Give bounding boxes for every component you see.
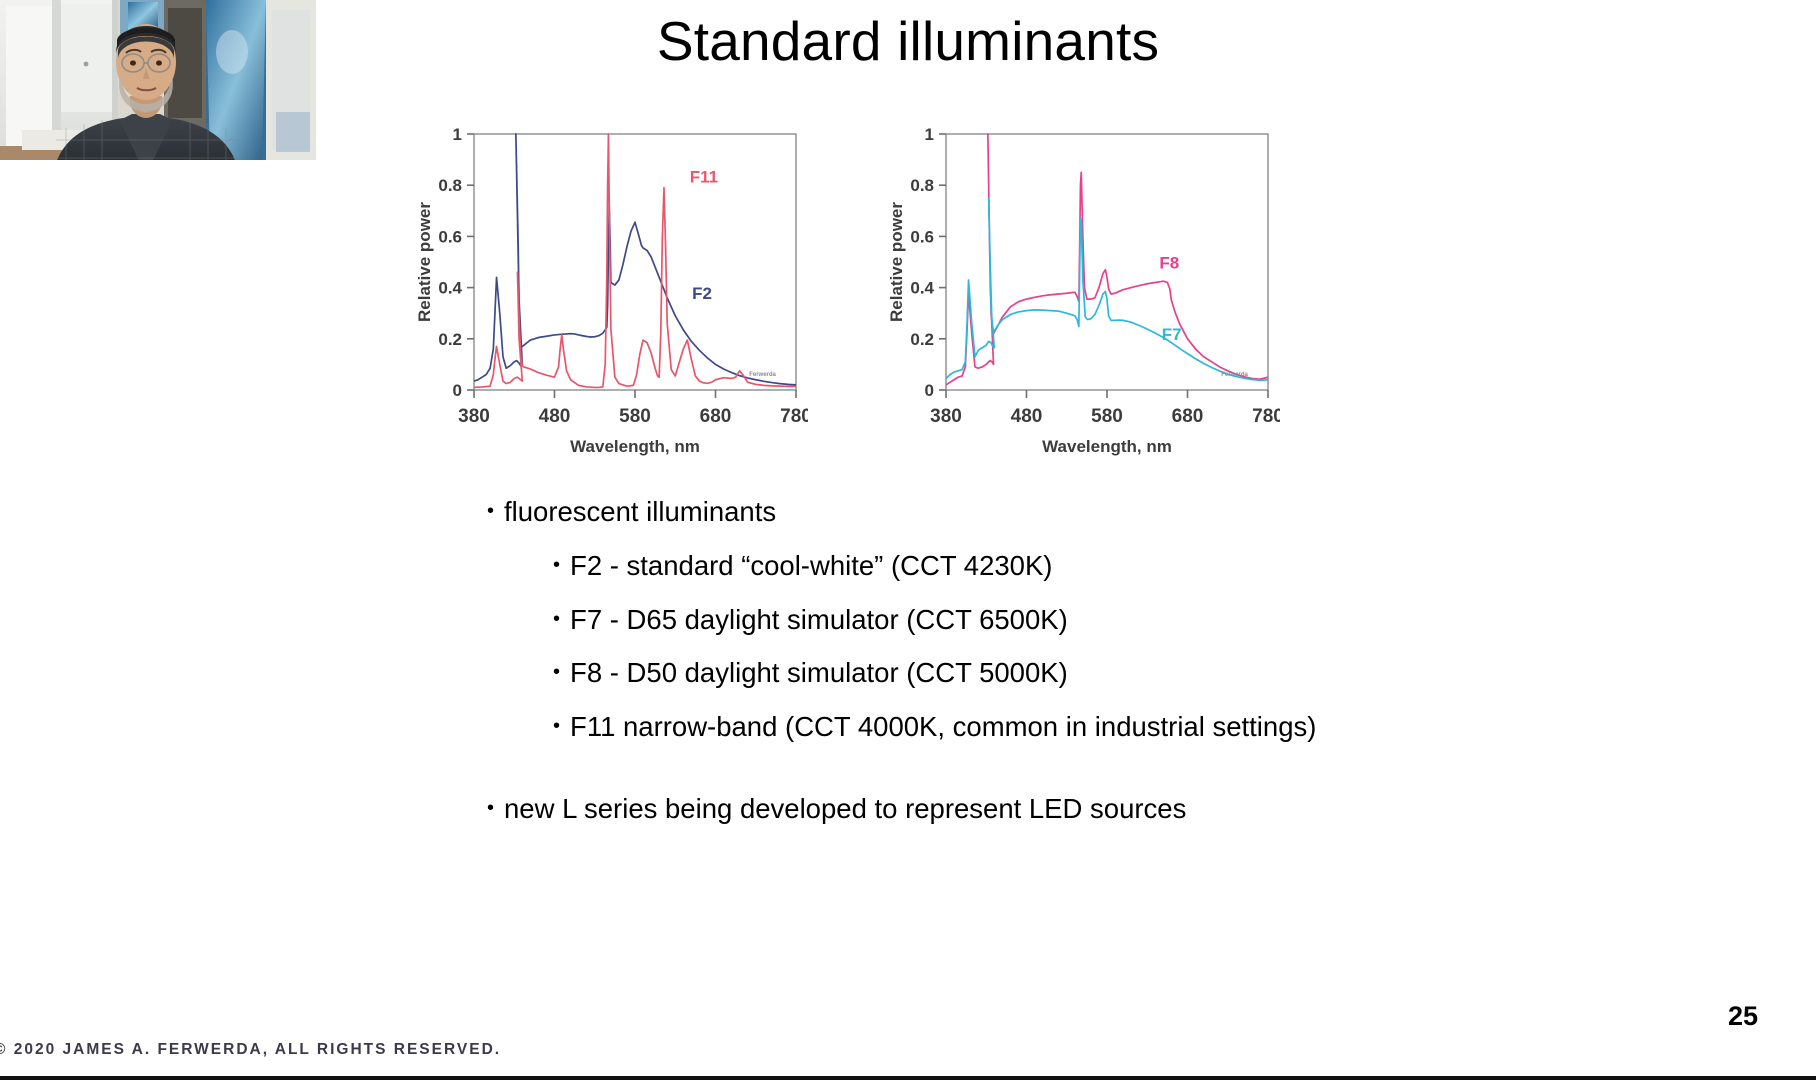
bullet-marker-icon: • (553, 550, 560, 581)
y-tick-label: 1 (925, 125, 934, 144)
x-tick-label: 680 (700, 406, 732, 427)
y-tick-label: 0 (453, 381, 462, 400)
bullet-item: •F8 - D50 daylight simulator (CCT 5000K) (0, 657, 1816, 689)
y-tick-label: 0.6 (910, 227, 934, 246)
series-label-F7: F7 (1162, 325, 1182, 344)
y-tick-label: 0.2 (910, 330, 934, 349)
bullet-marker-icon: • (487, 793, 494, 824)
series-label-F11: F11 (690, 168, 718, 187)
bullet-marker-icon: • (553, 657, 560, 688)
page-title: Standard illuminants (0, 8, 1816, 74)
x-tick-label: 380 (930, 406, 962, 427)
bullet-text: F7 - D65 daylight simulator (CCT 6500K) (570, 604, 1068, 636)
chart-credit-label: Ferwerda (1221, 372, 1248, 378)
x-axis-label: Wavelength, nm (1042, 437, 1172, 456)
x-tick-label: 580 (619, 406, 651, 427)
x-axis-label: Wavelength, nm (570, 437, 700, 456)
y-tick-label: 0 (925, 381, 934, 400)
y-tick-label: 0.8 (910, 176, 934, 195)
x-tick-label: 580 (1091, 406, 1123, 427)
bullet-text: F8 - D50 daylight simulator (CCT 5000K) (570, 657, 1068, 689)
x-tick-label: 680 (1172, 406, 1204, 427)
bullet-item: •F7 - D65 daylight simulator (CCT 6500K) (0, 604, 1816, 636)
chart-credit-label: Ferwerda (749, 372, 776, 378)
chart-f2-f11-svg: 00.20.40.60.81380480580680780Wavelength,… (396, 118, 808, 463)
y-tick-label: 0.4 (438, 279, 462, 298)
bullet-marker-icon: • (553, 604, 560, 635)
bullet-text: F2 - standard “cool-white” (CCT 4230K) (570, 550, 1052, 582)
chart-f7-f8-svg: 00.20.40.60.81380480580680780Wavelength,… (868, 118, 1280, 463)
bullet-text: new L series being developed to represen… (504, 793, 1186, 825)
y-axis-label: Relative power (887, 202, 906, 322)
footer-copyright: © 2020 JAMES A. FERWERDA, ALL RIGHTS RES… (0, 1041, 501, 1059)
bullet-item: •F11 narrow-band (CCT 4000K, common in i… (0, 711, 1816, 743)
x-tick-label: 780 (1252, 406, 1280, 427)
y-tick-label: 1 (453, 125, 462, 144)
bullet-item: •new L series being developed to represe… (0, 793, 1816, 825)
series-line-F2 (474, 134, 796, 385)
bullet-marker-icon: • (487, 496, 494, 527)
x-tick-label: 780 (780, 406, 808, 427)
y-axis-label: Relative power (415, 202, 434, 322)
page-number: 25 (1728, 1001, 1758, 1032)
bullet-marker-icon: • (553, 711, 560, 742)
x-tick-label: 380 (458, 406, 490, 427)
bullet-text: fluorescent illuminants (504, 496, 776, 528)
y-tick-label: 0.6 (438, 227, 462, 246)
x-tick-label: 480 (539, 406, 571, 427)
x-tick-label: 480 (1011, 406, 1043, 427)
bullet-list: •fluorescent illuminants•F2 - standard “… (0, 496, 1816, 848)
plot-frame (946, 134, 1268, 390)
y-tick-label: 0.2 (438, 330, 462, 349)
bullet-item: •fluorescent illuminants (0, 496, 1816, 528)
bottom-rule (0, 1076, 1816, 1080)
bullet-text: F11 narrow-band (CCT 4000K, common in in… (570, 711, 1316, 743)
series-line-F7 (946, 198, 1268, 380)
series-label-F8: F8 (1159, 253, 1179, 272)
y-tick-label: 0.8 (438, 176, 462, 195)
chart-f2-f11: 00.20.40.60.81380480580680780Wavelength,… (396, 118, 808, 463)
y-tick-label: 0.4 (910, 279, 934, 298)
bullet-item: •F2 - standard “cool-white” (CCT 4230K) (0, 550, 1816, 582)
chart-f7-f8: 00.20.40.60.81380480580680780Wavelength,… (868, 118, 1280, 463)
series-label-F2: F2 (692, 284, 712, 303)
